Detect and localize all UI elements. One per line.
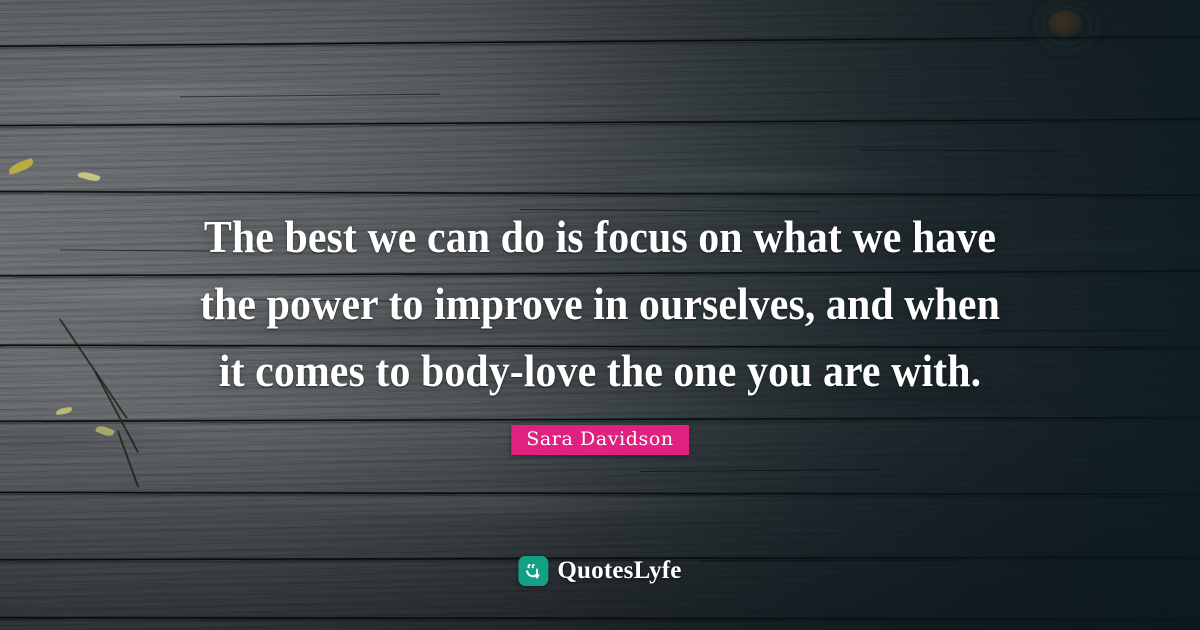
card-content: The best we can do is focus on what we h…: [0, 0, 1200, 630]
quote-text-block: The best we can do is focus on what we h…: [140, 204, 1060, 405]
brand-logo[interactable]: QuotesLyfe: [518, 556, 681, 586]
quote-card: The best we can do is focus on what we h…: [0, 0, 1200, 630]
author-attribution-badge: Sara Davidson: [511, 425, 689, 455]
quote-line-2: the power to improve in ourselves, and w…: [172, 271, 1028, 338]
quote-line-1: The best we can do is focus on what we h…: [172, 204, 1028, 271]
quote-smiley-icon: [518, 556, 548, 586]
quote-line-3: it comes to body-love the one you are wi…: [172, 338, 1028, 405]
brand-name-text: QuotesLyfe: [557, 557, 681, 585]
